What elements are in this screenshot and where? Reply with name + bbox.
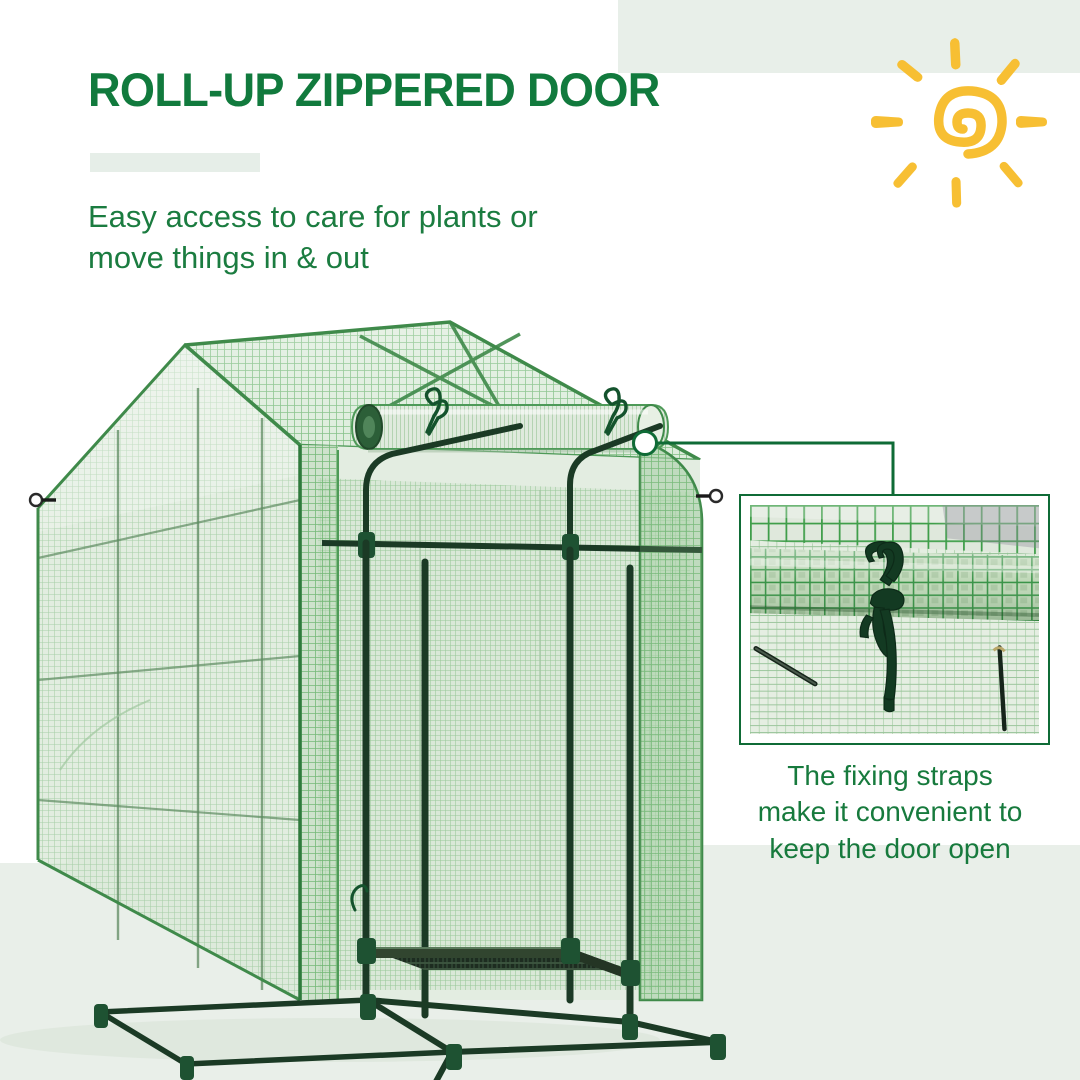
caption-line-3: keep the door open [715, 831, 1065, 867]
subtitle-line-2: move things in & out [88, 237, 648, 278]
greenhouse-side-wall [38, 345, 300, 1000]
page-title: ROLL-UP ZIPPERED DOOR [88, 62, 660, 117]
subtitle-line-1: Easy access to care for plants or [88, 196, 648, 237]
fixing-strap-closeup-photo [750, 505, 1039, 734]
caption-line-2: make it convenient to [715, 794, 1065, 830]
page-subtitle: Easy access to care for plants or move t… [88, 196, 648, 278]
detail-inset-card [739, 494, 1050, 745]
inset-caption: The fixing straps make it convenient to … [715, 758, 1065, 867]
greenhouse-product-image [0, 300, 760, 1080]
marketing-banner: ROLL-UP ZIPPERED DOOR Easy access to car… [0, 0, 1080, 1080]
callout-dot [632, 430, 658, 456]
accent-rule [90, 153, 260, 172]
caption-line-1: The fixing straps [715, 758, 1065, 794]
sun-spiral-icon [868, 36, 1048, 211]
